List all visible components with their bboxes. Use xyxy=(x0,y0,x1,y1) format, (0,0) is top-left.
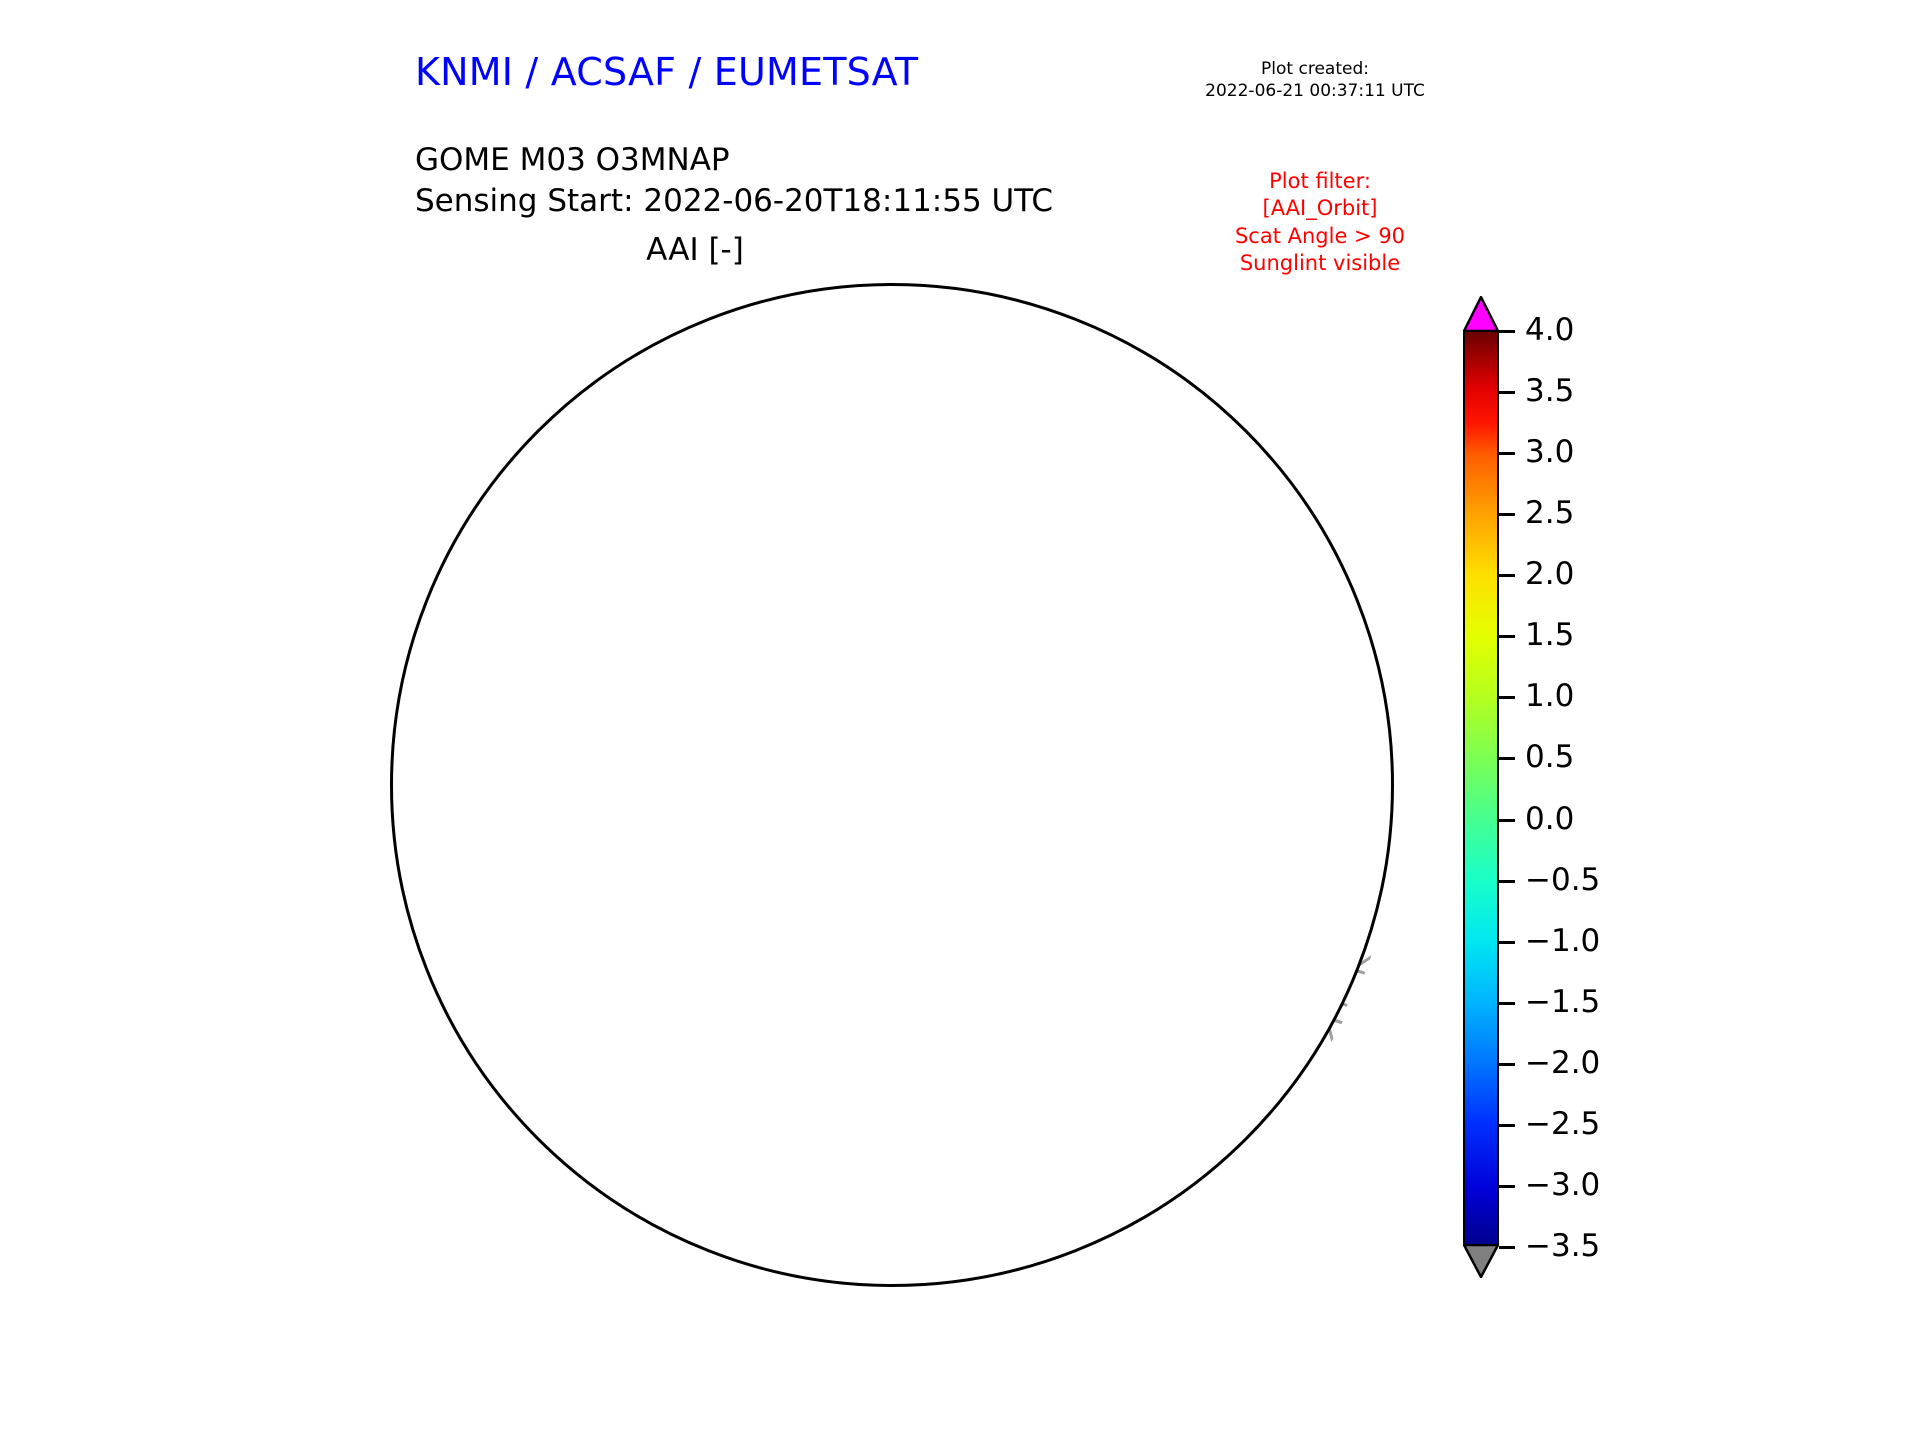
colorbar-tick-label: −0.5 xyxy=(1525,862,1600,898)
colorbar-tick-mark xyxy=(1499,1002,1515,1005)
colorbar-tick-mark xyxy=(1499,880,1515,883)
colorbar: 4.03.53.02.52.01.51.00.50.0−0.5−1.0−1.5−… xyxy=(1455,288,1785,1298)
colorbar-tick-mark xyxy=(1499,1124,1515,1127)
colorbar-tick-label: 3.0 xyxy=(1525,434,1574,470)
colorbar-tick-label: −1.0 xyxy=(1525,923,1600,959)
plot-created-timestamp: 2022-06-21 00:37:11 UTC xyxy=(1150,80,1480,102)
colorbar-tick-mark xyxy=(1499,941,1515,944)
organisation-title: KNMI / ACSAF / EUMETSAT xyxy=(415,50,918,94)
colorbar-tick-label: 4.0 xyxy=(1525,312,1574,348)
colorbar-tick-mark xyxy=(1499,391,1515,394)
instrument-title: GOME M03 O3MNAP xyxy=(415,140,1053,181)
colorbar-tick-mark xyxy=(1499,757,1515,760)
plot-filter-block: Plot filter: [AAI_Orbit] Scat Angle > 90… xyxy=(1190,168,1450,277)
colorbar-tick-mark xyxy=(1499,1246,1515,1249)
colorbar-tick-mark xyxy=(1499,574,1515,577)
colorbar-tick-label: 1.0 xyxy=(1525,678,1574,714)
colorbar-tick-label: −2.5 xyxy=(1525,1106,1600,1142)
colorbar-tick-label: 0.5 xyxy=(1525,739,1574,775)
plot-filter-line-2: Scat Angle > 90 xyxy=(1190,223,1450,250)
parameter-title: AAI [-] xyxy=(415,232,975,268)
colorbar-tick-label: −2.0 xyxy=(1525,1045,1600,1081)
plot-filter-line-3: Sunglint visible xyxy=(1190,250,1450,277)
colorbar-tick-label: 0.0 xyxy=(1525,801,1574,837)
colorbar-gradient xyxy=(1463,330,1499,1246)
plot-title-block: GOME M03 O3MNAP Sensing Start: 2022-06-2… xyxy=(415,140,1053,222)
colorbar-tick-mark xyxy=(1499,452,1515,455)
colorbar-tick-mark xyxy=(1499,1185,1515,1188)
colorbar-tick-mark xyxy=(1499,513,1515,516)
plot-created-label: Plot created: xyxy=(1150,58,1480,80)
colorbar-tick-label: 1.5 xyxy=(1525,617,1574,653)
colorbar-tick-mark xyxy=(1499,635,1515,638)
plot-created-block: Plot created: 2022-06-21 00:37:11 UTC xyxy=(1150,58,1480,103)
colorbar-over-range-arrow xyxy=(1463,296,1499,332)
colorbar-tick-label: 3.5 xyxy=(1525,373,1574,409)
colorbar-tick-mark xyxy=(1499,696,1515,699)
plot-filter-heading: Plot filter: xyxy=(1190,168,1450,195)
globe-map xyxy=(390,283,1400,1293)
colorbar-under-range-arrow xyxy=(1463,1244,1499,1278)
colorbar-tick-label: 2.0 xyxy=(1525,556,1574,592)
colorbar-tick-label: 2.5 xyxy=(1525,495,1574,531)
plot-filter-line-1: [AAI_Orbit] xyxy=(1190,195,1450,222)
colorbar-tick-label: −3.0 xyxy=(1525,1167,1600,1203)
sensing-start-title: Sensing Start: 2022-06-20T18:11:55 UTC xyxy=(415,181,1053,222)
globe-outline xyxy=(390,283,1394,1287)
colorbar-tick-label: −1.5 xyxy=(1525,984,1600,1020)
colorbar-tick-mark xyxy=(1499,819,1515,822)
colorbar-tick-label: −3.5 xyxy=(1525,1228,1600,1264)
colorbar-tick-mark xyxy=(1499,330,1515,333)
colorbar-tick-mark xyxy=(1499,1063,1515,1066)
